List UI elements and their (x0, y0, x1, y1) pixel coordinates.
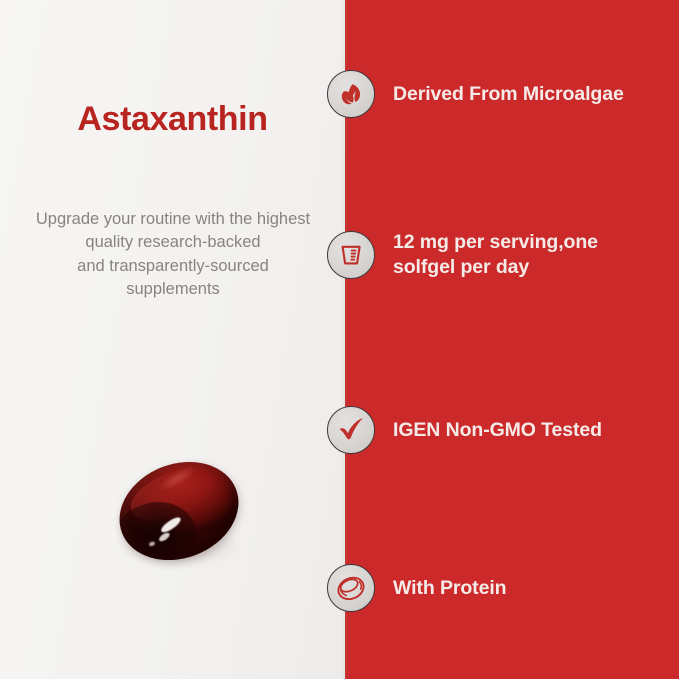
description-line: Upgrade your routine with the highest (18, 208, 328, 231)
feature-label-line: solfgel per day (393, 255, 598, 280)
feature-row: With Protein (327, 564, 667, 612)
description-line: and transparently-sourced (18, 255, 328, 278)
feature-label: With Protein (393, 576, 506, 601)
capsule-body (105, 445, 253, 576)
description-line: quality research-backed (18, 231, 328, 254)
feature-label-line: Derived From Microalgae (393, 82, 624, 107)
feature-label: IGEN Non-GMO Tested (393, 418, 602, 443)
checkmark-icon (327, 406, 375, 454)
feature-row: Derived From Microalgae (327, 70, 667, 118)
feature-row: IGEN Non-GMO Tested (327, 406, 667, 454)
product-infographic: Astaxanthin Upgrade your routine with th… (0, 0, 679, 679)
measuring-cup-icon (327, 231, 375, 279)
description-line: supplements (18, 278, 328, 301)
feature-label: 12 mg per serving,one solfgel per day (393, 230, 598, 280)
feature-label-line: IGEN Non-GMO Tested (393, 418, 602, 443)
leaf-icon (327, 70, 375, 118)
softgel-capsule-image (116, 460, 242, 564)
softgel-capsule-icon (327, 564, 375, 612)
feature-label-line: 12 mg per serving,one (393, 230, 598, 255)
feature-label: Derived From Microalgae (393, 82, 624, 107)
product-description: Upgrade your routine with the highest qu… (18, 208, 328, 302)
feature-label-line: With Protein (393, 576, 506, 601)
page-title: Astaxanthin (0, 101, 345, 138)
feature-row: 12 mg per serving,one solfgel per day (327, 231, 667, 279)
